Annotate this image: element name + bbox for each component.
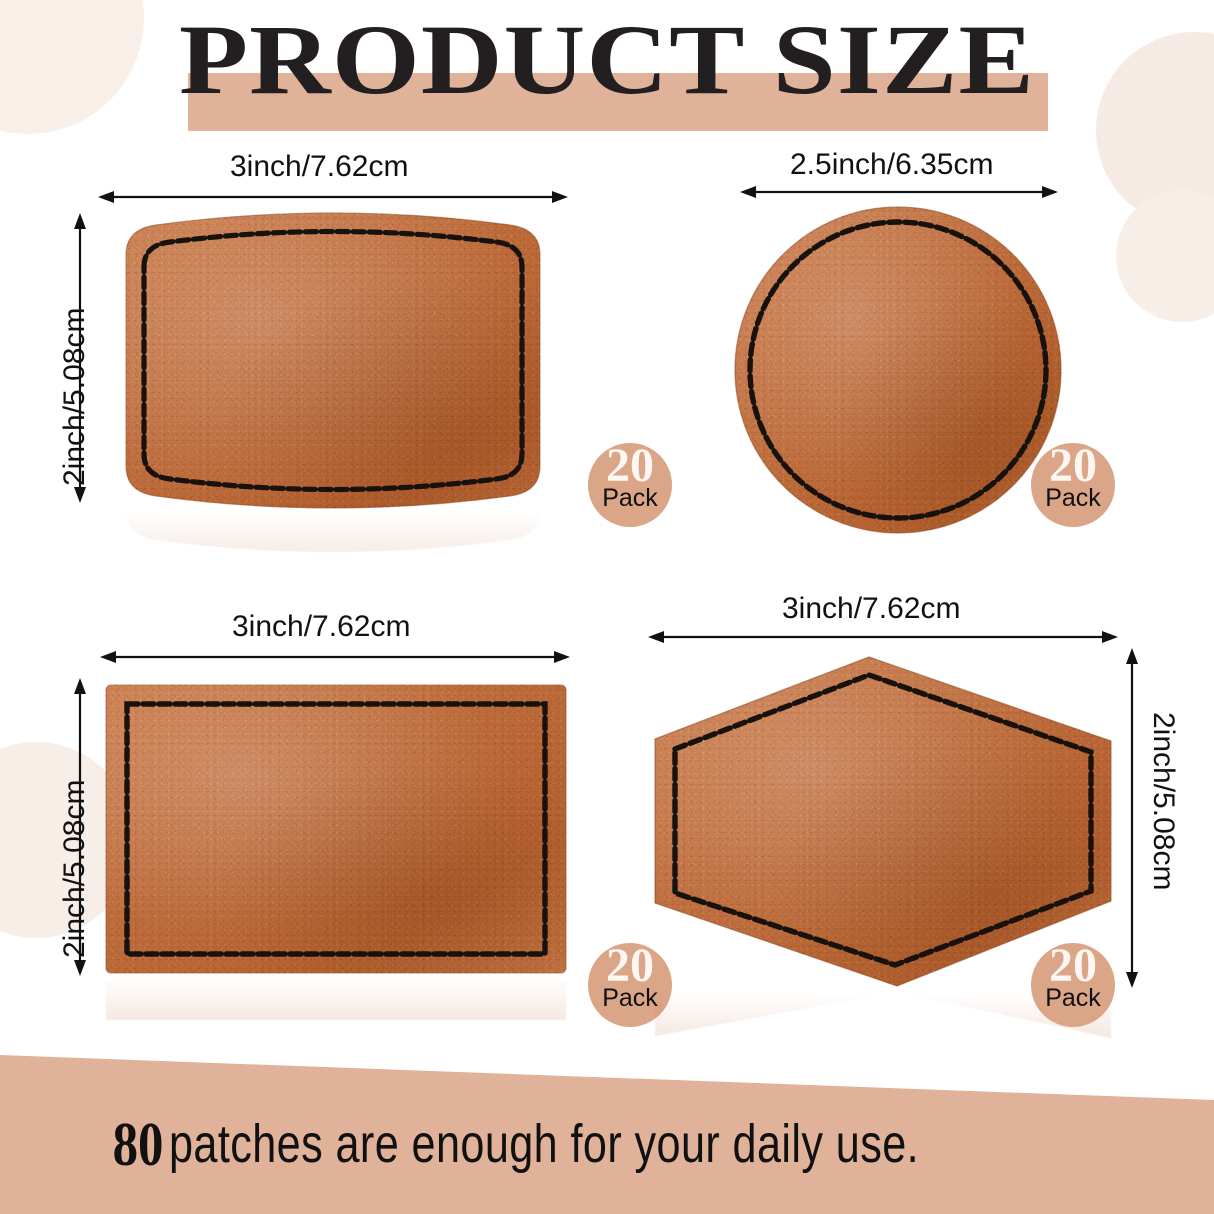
pack-badge-rounded-rectangle: 20 Pack [588,443,672,527]
hexagon-patch [653,653,1113,990]
circle-width-label: 2.5inch/6.35cm [790,148,993,182]
pack-badge-circle: 20 Pack [1031,443,1115,527]
hexagon-height-label: 2inch/5.08cm [1146,712,1180,890]
rectangle-patch [105,684,567,974]
badge-word: Pack [588,485,672,511]
rectangle-patch-reflection [105,974,567,1044]
badge-word: Pack [1031,485,1115,511]
circle-patch [733,205,1063,535]
hexagon-height-dimension [1120,648,1144,988]
infographic-canvas: PRODUCT SIZE [0,0,1214,1214]
rounded-rectangle-patch-reflection [98,508,568,588]
circle-width-dimension [740,180,1058,204]
rounded-rect-width-dimension [98,185,568,209]
hexagon-width-label: 3inch/7.62cm [782,592,960,626]
footer-message: 80patches are enough for your daily use. [0,1114,1214,1176]
rounded-rectangle-patch [98,213,568,508]
hexagon-width-dimension [648,625,1118,649]
pack-badge-hexagon: 20 Pack [1031,943,1115,1027]
footer-count: 80 [113,1114,164,1176]
decor-circle-top-right-small [1116,190,1214,322]
rounded-rect-width-label: 3inch/7.62cm [230,150,408,184]
rectangle-height-label: 2inch/5.08cm [58,780,92,958]
badge-word: Pack [1031,985,1115,1011]
page-title: PRODUCT SIZE [0,6,1214,114]
rectangle-width-label: 3inch/7.62cm [232,610,410,644]
footer-message-text: patches are enough for your daily use. [169,1117,919,1171]
rounded-rect-height-label: 2inch/5.08cm [58,308,92,486]
rectangle-width-dimension [100,645,570,669]
